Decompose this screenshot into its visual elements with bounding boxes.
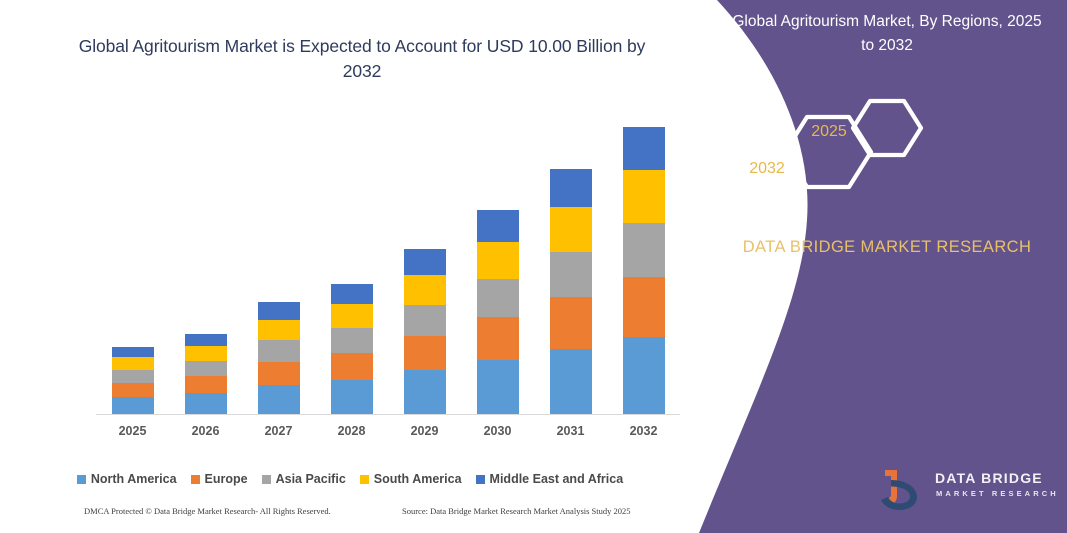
bar-segment: [477, 242, 519, 279]
bar-column-2026: [185, 334, 227, 415]
bar-segment: [477, 360, 519, 415]
bar-column-2031: [550, 169, 592, 415]
chart-panel: Global Agritourism Market is Expected to…: [0, 0, 710, 533]
bar-segment: [258, 302, 300, 320]
bar-column-2027: [258, 302, 300, 415]
bar-segment: [185, 334, 227, 347]
x-axis-label-2031: 2031: [536, 424, 606, 438]
legend-label: Asia Pacific: [276, 472, 346, 486]
hexagon-pair-graphic: [765, 90, 965, 210]
bar-segment: [258, 320, 300, 341]
legend-swatch-icon: [360, 475, 369, 484]
bar-segment: [331, 380, 373, 415]
bar-column-2028: [331, 284, 373, 415]
bar-segment: [550, 349, 592, 415]
bar-segment: [185, 346, 227, 361]
bar-segment: [623, 223, 665, 277]
bar-segment: [112, 357, 154, 370]
bar-segment: [404, 305, 446, 336]
bar-segment: [258, 385, 300, 415]
logo-text-main: DATA BRIDGE: [935, 470, 1043, 486]
x-axis-line: [96, 414, 680, 415]
legend-swatch-icon: [77, 475, 86, 484]
bar-segment: [477, 210, 519, 242]
x-axis-label-2027: 2027: [244, 424, 314, 438]
bar-segment: [404, 275, 446, 305]
bar-segment: [477, 317, 519, 360]
bar-segment: [623, 277, 665, 337]
legend-item[interactable]: Asia Pacific: [262, 472, 346, 486]
footer-source: Source: Data Bridge Market Research Mark…: [402, 506, 631, 516]
bar-segment: [185, 361, 227, 376]
chart-legend: North AmericaEuropeAsia PacificSouth Ame…: [0, 472, 700, 486]
bar-segment: [477, 279, 519, 317]
legend-label: Middle East and Africa: [490, 472, 624, 486]
legend-swatch-icon: [476, 475, 485, 484]
legend-swatch-icon: [191, 475, 200, 484]
legend-label: Europe: [205, 472, 248, 486]
legend-item[interactable]: North America: [77, 472, 177, 486]
legend-item[interactable]: Europe: [191, 472, 248, 486]
bar-segment: [112, 383, 154, 397]
hexagon-2025-label: 2025: [799, 123, 859, 141]
bar-segment: [550, 252, 592, 298]
footer-copyright: DMCA Protected © Data Bridge Market Rese…: [84, 506, 331, 516]
legend-item[interactable]: South America: [360, 472, 462, 486]
bar-segment: [331, 304, 373, 328]
bar-column-2025: [112, 347, 154, 415]
bar-segment: [623, 170, 665, 223]
hexagon-2025-shape: [853, 101, 921, 155]
bar-segment: [112, 347, 154, 358]
purple-curved-background: [687, 0, 1067, 533]
bar-segment: [185, 393, 227, 415]
x-axis-label-2030: 2030: [463, 424, 533, 438]
legend-swatch-icon: [262, 475, 271, 484]
bar-column-2032: [623, 127, 665, 415]
x-axis-label-2028: 2028: [317, 424, 387, 438]
dbmr-logo: DATA BRIDGE MARKET RESEARCH: [877, 466, 1062, 518]
bar-segment: [331, 353, 373, 380]
x-axis-label-2032: 2032: [609, 424, 679, 438]
bar-segment: [404, 370, 446, 415]
logo-text-sub: MARKET RESEARCH: [936, 489, 1059, 498]
bar-segment: [331, 284, 373, 304]
x-axis-label-2029: 2029: [390, 424, 460, 438]
bar-segment: [550, 297, 592, 349]
bar-column-2030: [477, 210, 519, 415]
x-axis-labels: 20252026202720282029203020312032: [96, 424, 680, 444]
panel-title: Global Agritourism Market, By Regions, 2…: [727, 10, 1047, 58]
chart-title: Global Agritourism Market is Expected to…: [62, 34, 662, 84]
dbmr-logo-mark-icon: [877, 466, 933, 514]
legend-item[interactable]: Middle East and Africa: [476, 472, 624, 486]
bar-segment: [258, 340, 300, 361]
bar-segment: [550, 169, 592, 207]
hexagon-2032-label: 2032: [735, 160, 799, 178]
legend-label: North America: [91, 472, 177, 486]
bar-segment: [623, 127, 665, 170]
brand-name: DATA BRIDGE MARKET RESEARCH: [727, 234, 1047, 260]
bar-segment: [404, 249, 446, 275]
bar-segment: [404, 336, 446, 370]
bar-column-2029: [404, 249, 446, 415]
chart-plot-area: [96, 110, 680, 415]
branding-panel: Global Agritourism Market, By Regions, 2…: [687, 0, 1067, 533]
legend-label: South America: [374, 472, 462, 486]
bar-segment: [550, 207, 592, 252]
bar-segment: [185, 376, 227, 393]
bar-segment: [623, 337, 665, 415]
bar-segment: [331, 328, 373, 353]
bar-segment: [112, 397, 154, 415]
x-axis-label-2026: 2026: [171, 424, 241, 438]
x-axis-label-2025: 2025: [98, 424, 168, 438]
bar-segment: [258, 362, 300, 385]
bar-segment: [112, 370, 154, 383]
